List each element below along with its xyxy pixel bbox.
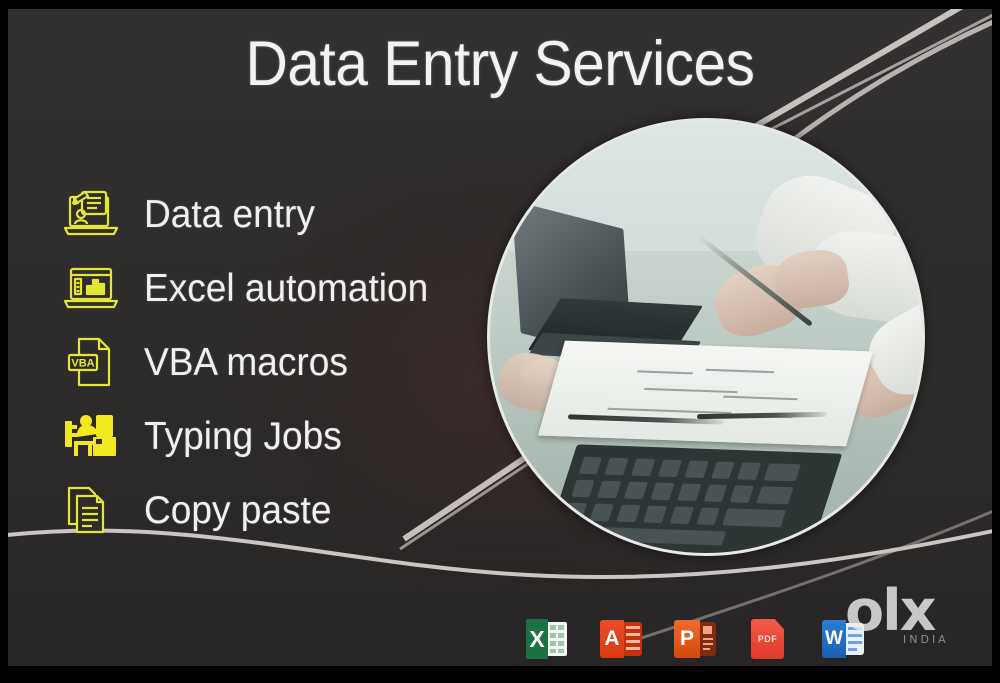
feature-item-excel-automation[interactable]: Excel automation [60,251,490,325]
feature-label: Copy paste [144,491,331,530]
laptop-bar-chart-icon [60,259,122,317]
hero-photo [487,118,925,556]
laptop-form-pencil-icon [60,185,122,243]
excel-icon[interactable]: X [524,616,570,662]
feature-label: Excel automation [144,269,428,308]
word-icon-lines [846,623,864,655]
feature-list: Data entry [60,177,490,547]
feature-item-data-entry[interactable]: Data entry [60,177,490,251]
powerpoint-icon[interactable]: P [672,616,718,662]
app-icon-row: X A [524,616,866,662]
feature-label: Data entry [144,195,315,234]
excel-icon-letter: X [526,619,548,659]
word-icon[interactable]: W [820,616,866,662]
access-icon-stripes [624,622,642,656]
page-title: Data Entry Services [42,31,957,97]
feature-label: VBA macros [144,343,348,382]
poster-canvas: Data Entry Services [0,0,1000,683]
word-icon-letter: W [822,620,846,658]
copy-documents-icon [60,481,122,539]
powerpoint-icon-slide [700,622,716,656]
pdf-icon[interactable]: PDF [746,616,792,662]
access-icon[interactable]: A [598,616,644,662]
excel-icon-grid [548,622,567,656]
feature-item-typing-jobs[interactable]: Typing Jobs [60,399,490,473]
person-typing-desk-icon [60,407,122,465]
access-icon-letter: A [600,620,624,658]
feature-item-copy-paste[interactable]: Copy paste [60,473,490,547]
pdf-icon-label: PDF [751,619,784,659]
powerpoint-icon-letter: P [674,620,700,658]
hero-photo-image [490,121,922,553]
feature-item-vba-macros[interactable]: VBA VBA macros [60,325,490,399]
vba-icon-text: VBA [71,358,94,370]
vba-file-icon: VBA [60,333,122,391]
feature-label: Typing Jobs [144,417,342,456]
